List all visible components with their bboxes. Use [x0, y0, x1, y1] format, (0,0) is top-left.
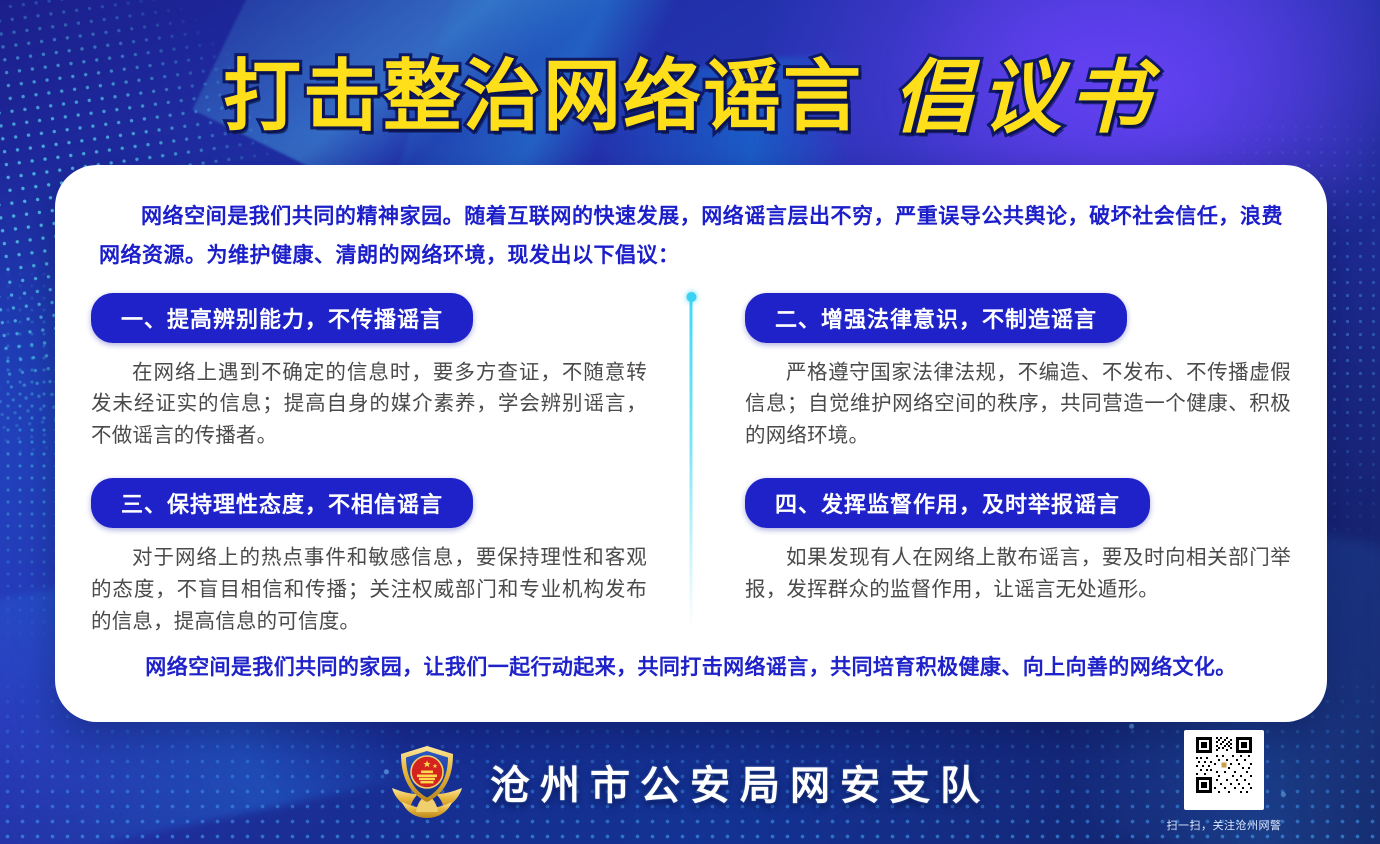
section-three: 三、保持理性态度，不相信谣言 对于网络上的热点事件和敏感信息，要保持理性和客观的…: [91, 478, 647, 637]
section-four-body: 如果发现有人在网络上散布谣言，要及时向相关部门举报，发挥群众的监督作用，让谣言无…: [745, 542, 1291, 606]
intro-block: 网络空间是我们共同的精神家园。随着互联网的快速发展，网络谣言层出不穷，严重误导公…: [55, 165, 1327, 275]
column-divider: [690, 297, 693, 627]
qr-code-icon[interactable]: [1184, 730, 1264, 810]
section-three-heading: 三、保持理性态度，不相信谣言: [91, 478, 473, 528]
qr-caption: 扫一扫，关注沧州网警: [1156, 817, 1292, 833]
police-emblem-icon: [390, 742, 464, 822]
content-card: 网络空间是我们共同的精神家园。随着互联网的快速发展，网络谣言层出不穷，严重误导公…: [55, 165, 1327, 722]
section-one-heading: 一、提高辨别能力，不传播谣言: [91, 293, 473, 343]
section-two-body: 严格遵守国家法律法规，不编造、不发布、不传播虚假信息；自觉维护网络空间的秩序，共…: [745, 357, 1291, 452]
poster-title: 打击整治网络谣言 倡议书: [0, 42, 1380, 152]
sections-column-right: 二、增强法律意识，不制造谣言 严格遵守国家法律法规，不编造、不发布、不传播虚假信…: [691, 293, 1291, 638]
qr-block[interactable]: 扫一扫，关注沧州网警: [1156, 730, 1292, 833]
section-two-heading: 二、增强法律意识，不制造谣言: [745, 293, 1127, 343]
closing-statement: 网络空间是我们共同的家园，让我们一起行动起来，共同打击网络谣言，共同培育积极健康…: [55, 651, 1327, 681]
intro-paragraph: 网络空间是我们共同的精神家园。随着互联网的快速发展，网络谣言层出不穷，严重误导公…: [99, 197, 1283, 275]
section-two: 二、增强法律意识，不制造谣言 严格遵守国家法律法规，不编造、不发布、不传播虚假信…: [745, 293, 1291, 452]
poster-footer: 沧州市公安局网安支队: [0, 722, 1380, 844]
section-one: 一、提高辨别能力，不传播谣言 在网络上遇到不确定的信息时，要多方查证，不随意转发…: [91, 293, 647, 452]
section-one-body: 在网络上遇到不确定的信息时，要多方查证，不随意转发未经证实的信息；提高自身的媒介…: [91, 357, 647, 452]
organization-name: 沧州市公安局网安支队: [490, 753, 990, 811]
section-four: 四、发挥监督作用，及时举报谣言 如果发现有人在网络上散布谣言，要及时向相关部门举…: [745, 478, 1291, 606]
section-four-heading: 四、发挥监督作用，及时举报谣言: [745, 478, 1150, 528]
title-main-text: 打击整治网络谣言: [223, 58, 863, 136]
sections-column-left: 一、提高辨别能力，不传播谣言 在网络上遇到不确定的信息时，要多方查证，不随意转发…: [91, 293, 691, 638]
sections-columns: 一、提高辨别能力，不传播谣言 在网络上遇到不确定的信息时，要多方查证，不随意转发…: [55, 293, 1327, 638]
title-sub-text: 倡议书: [893, 57, 1157, 137]
poster-root: 打击整治网络谣言 倡议书 网络空间是我们共同的精神家园。随着互联网的快速发展，网…: [0, 0, 1380, 844]
section-three-body: 对于网络上的热点事件和敏感信息，要保持理性和客观的态度，不盲目相信和传播；关注权…: [91, 542, 647, 637]
